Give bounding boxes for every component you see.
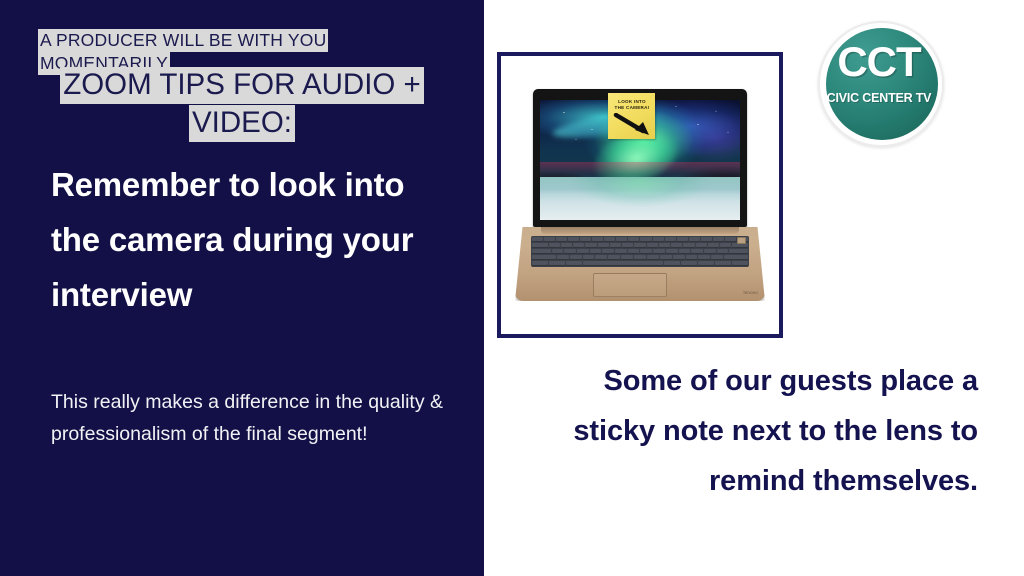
photo-frame: LOOK INTO THE CAMERA! (497, 52, 783, 338)
laptop-illustration: LOOK INTO THE CAMERA! (515, 83, 765, 307)
sticky-note: LOOK INTO THE CAMERA! (608, 93, 655, 139)
laptop-hinge (541, 227, 739, 234)
laptop-photo: LOOK INTO THE CAMERA! (505, 60, 775, 330)
power-button-icon (737, 237, 746, 244)
key-row (532, 261, 748, 266)
section-title: ZOOM TIPS FOR AUDIO + VIDEO: (38, 66, 446, 142)
laptop-base: lenovo (515, 227, 765, 301)
arrow-icon (613, 113, 653, 137)
supporting-text: This really makes a difference in the qu… (51, 387, 446, 450)
logo-initials: CCT (817, 41, 941, 83)
laptop-brand-label: lenovo (744, 290, 758, 295)
laptop-keyboard (531, 236, 749, 267)
laptop-trackpad (593, 273, 667, 297)
key-row (532, 249, 748, 254)
key-row (532, 237, 748, 242)
lake-reflection (540, 177, 740, 220)
headline: Remember to look into the camera during … (51, 158, 451, 322)
key-row (532, 255, 748, 260)
logo-wordmark: CIVIC CENTER TV (817, 91, 941, 105)
slide-canvas: A PRODUCER WILL BE WITH YOU MOMENTARILY … (0, 0, 1024, 576)
left-navy-panel: A PRODUCER WILL BE WITH YOU MOMENTARILY … (0, 0, 484, 576)
photo-caption: Some of our guests place a sticky note n… (520, 356, 978, 506)
cct-logo: CCT CIVIC CENTER TV (817, 21, 965, 145)
section-title-text: ZOOM TIPS FOR AUDIO + VIDEO: (60, 67, 424, 142)
key-row (532, 243, 748, 248)
sticky-note-line-2: THE CAMERA! (612, 104, 652, 111)
